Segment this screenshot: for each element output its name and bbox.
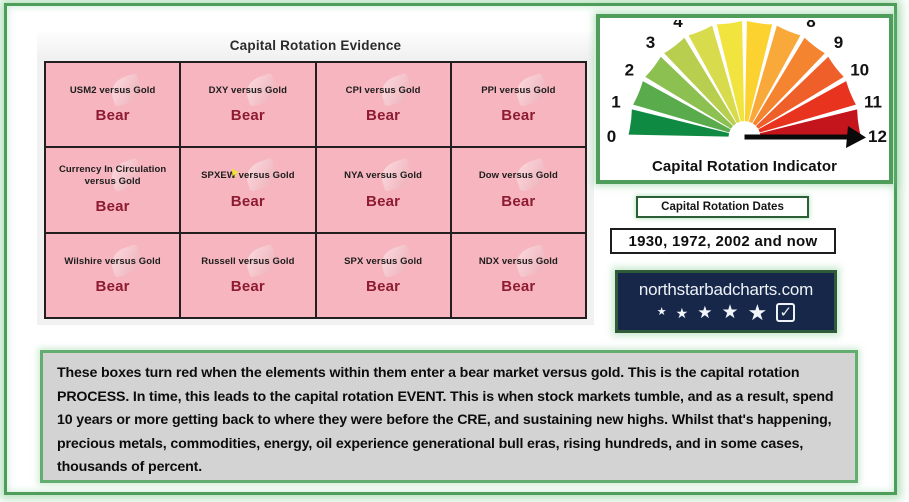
star-icon: ★ bbox=[721, 303, 738, 322]
evidence-cell-status: Bear bbox=[501, 107, 535, 124]
gauge-dial: 0123456789101112 bbox=[600, 20, 889, 148]
evidence-panel-title: Capital Rotation Evidence bbox=[37, 32, 594, 60]
capital-rotation-evidence-panel: Capital Rotation Evidence USM2 versus Go… bbox=[37, 32, 594, 325]
evidence-cell-label: Wilshire versus Gold bbox=[60, 256, 164, 268]
evidence-cell[interactable]: Dow versus GoldBear bbox=[452, 148, 587, 233]
capital-rotation-dates-title: Capital Rotation Dates bbox=[636, 196, 809, 218]
evidence-cell[interactable]: NDX versus GoldBear bbox=[452, 234, 587, 319]
gauge-tick-label: 4 bbox=[673, 20, 683, 31]
evidence-cell-status: Bear bbox=[501, 278, 535, 295]
evidence-cell-label: Currency In Circulation versus Gold bbox=[46, 164, 179, 187]
evidence-cell-status: Bear bbox=[366, 193, 400, 210]
gauge-tick-label: 0 bbox=[607, 127, 616, 146]
gauge-svg: 0123456789101112 bbox=[600, 20, 889, 148]
evidence-cell[interactable]: USM2 versus GoldBear bbox=[46, 63, 181, 148]
evidence-cell-label: NDX versus Gold bbox=[475, 256, 562, 268]
evidence-cell-label: Russell versus Gold bbox=[197, 256, 298, 268]
evidence-cell-status: Bear bbox=[366, 278, 400, 295]
gauge-tick-label: 3 bbox=[646, 33, 655, 52]
evidence-cell[interactable]: SPX versus GoldBear bbox=[317, 234, 452, 319]
star-icon: ★ bbox=[657, 307, 667, 318]
evidence-cell-label: Dow versus Gold bbox=[475, 170, 562, 182]
star-icon: ★ bbox=[748, 302, 768, 324]
gauge-tick-label: 11 bbox=[864, 93, 882, 112]
evidence-cell-status: Bear bbox=[231, 278, 265, 295]
capital-rotation-dates-value: 1930, 1972, 2002 and now bbox=[610, 228, 836, 254]
gauge-tick-label: 8 bbox=[806, 20, 815, 31]
commentary-text: These boxes turn red when the elements w… bbox=[57, 362, 841, 480]
commentary-box: These boxes turn red when the elements w… bbox=[40, 350, 858, 483]
evidence-cell-status: Bear bbox=[96, 198, 130, 215]
gauge-tick-label: 2 bbox=[625, 61, 634, 80]
evidence-cell[interactable]: Currency In Circulation versus GoldBear bbox=[46, 148, 181, 233]
star-icon: ★ bbox=[676, 306, 689, 320]
gauge-tick-label: 12 bbox=[868, 127, 887, 146]
evidence-cell-label: NYA versus Gold bbox=[340, 170, 426, 182]
evidence-cell[interactable]: PPI versus GoldBear bbox=[452, 63, 587, 148]
star-icon: ★ bbox=[697, 304, 712, 321]
evidence-cell-label: PPI versus Gold bbox=[477, 85, 559, 97]
checkbox-checked-icon: ✓ bbox=[776, 303, 795, 322]
evidence-cell-label: DXY versus Gold bbox=[205, 85, 291, 97]
evidence-cell-status: Bear bbox=[231, 107, 265, 124]
evidence-cell[interactable]: DXY versus GoldBear bbox=[181, 63, 316, 148]
evidence-cell[interactable]: NYA versus GoldBear bbox=[317, 148, 452, 233]
capital-rotation-indicator-panel: 0123456789101112 Capital Rotation Indica… bbox=[596, 14, 893, 184]
evidence-cell-label: SPX versus Gold bbox=[340, 256, 426, 268]
brand-badge[interactable]: northstarbadcharts.com ★ ★ ★ ★ ★ ✓ bbox=[615, 270, 837, 333]
brand-website-label: northstarbadcharts.com bbox=[639, 280, 813, 300]
evidence-grid: USM2 versus GoldBearDXY versus GoldBearC… bbox=[44, 61, 587, 319]
evidence-cell-status: Bear bbox=[231, 193, 265, 210]
evidence-cell-status: Bear bbox=[501, 193, 535, 210]
gauge-tick-label: 9 bbox=[834, 33, 843, 52]
evidence-cell[interactable]: CPI versus GoldBear bbox=[317, 63, 452, 148]
poster-frame: Capital Rotation Evidence USM2 versus Go… bbox=[4, 3, 897, 495]
evidence-cell[interactable]: SPXEW versus GoldBear bbox=[181, 148, 316, 233]
brand-star-row: ★ ★ ★ ★ ★ ✓ bbox=[657, 302, 795, 324]
evidence-cell-status: Bear bbox=[96, 107, 130, 124]
evidence-cell-status: Bear bbox=[366, 107, 400, 124]
gauge-tick-label: 1 bbox=[611, 93, 620, 112]
evidence-cell-label: CPI versus Gold bbox=[342, 85, 425, 97]
gauge-caption: Capital Rotation Indicator bbox=[600, 158, 889, 175]
evidence-cell[interactable]: Wilshire versus GoldBear bbox=[46, 234, 181, 319]
gauge-tick-label: 10 bbox=[850, 61, 869, 80]
evidence-cell-label: USM2 versus Gold bbox=[66, 85, 160, 97]
evidence-cell-label: SPXEW versus Gold bbox=[197, 170, 299, 182]
evidence-cell[interactable]: Russell versus GoldBear bbox=[181, 234, 316, 319]
evidence-cell-status: Bear bbox=[96, 278, 130, 295]
